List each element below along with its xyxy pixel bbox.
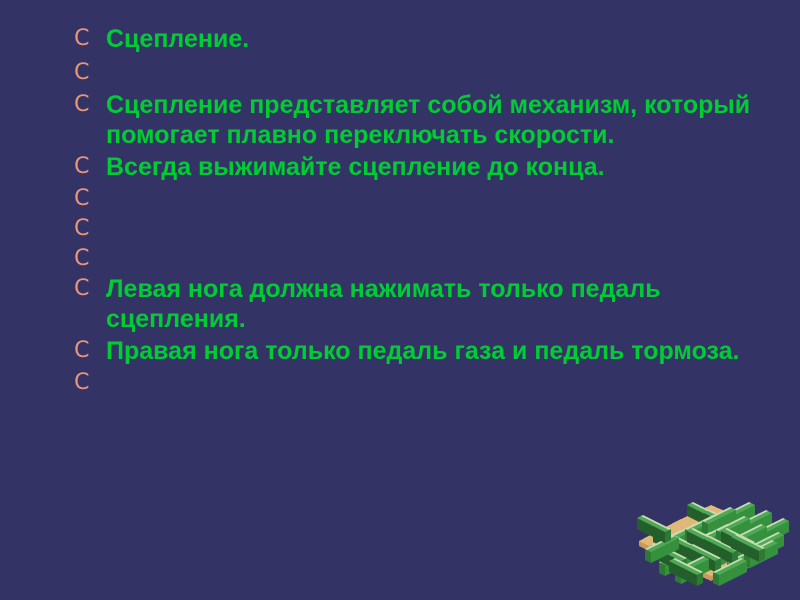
maze-walls xyxy=(637,502,789,586)
list-item[interactable]: Ɔ Левая нога должна нажимать только педа… xyxy=(64,274,764,334)
list-item-text: Всегда выжимайте сцепление до конца. xyxy=(106,152,764,182)
list-item[interactable]: Ɔ xyxy=(64,244,764,274)
list-item-text: Правая нога только педаль газа и педаль … xyxy=(106,336,764,366)
reversed-c-bullet-icon: Ɔ xyxy=(64,58,106,88)
slide-canvas: Ɔ Сцепление. Ɔ Ɔ Сцепление представляет … xyxy=(0,0,800,600)
list-item[interactable]: Ɔ xyxy=(64,58,764,88)
list-item[interactable]: Ɔ Всегда выжимайте сцепление до конца. xyxy=(64,152,764,182)
reversed-c-bullet-icon: Ɔ xyxy=(64,336,106,366)
list-item-text: Сцепление. xyxy=(106,24,764,54)
reversed-c-bullet-icon: Ɔ xyxy=(64,90,106,120)
list-item[interactable]: Ɔ Сцепление представляет собой механизм,… xyxy=(64,90,764,150)
isometric-maze-graphic xyxy=(625,492,797,588)
reversed-c-bullet-icon: Ɔ xyxy=(64,214,106,244)
list-item[interactable]: Ɔ Сцепление. xyxy=(64,24,764,54)
list-item[interactable]: Ɔ Правая нога только педаль газа и педал… xyxy=(64,336,764,366)
reversed-c-bullet-icon: Ɔ xyxy=(64,368,106,398)
list-item[interactable]: Ɔ xyxy=(64,184,764,214)
list-item[interactable]: Ɔ xyxy=(64,214,764,244)
list-item-text: Сцепление представляет собой механизм, к… xyxy=(106,90,764,150)
list-item-text: Левая нога должна нажимать только педаль… xyxy=(106,274,764,334)
reversed-c-bullet-icon: Ɔ xyxy=(64,24,106,54)
reversed-c-bullet-icon: Ɔ xyxy=(64,184,106,214)
reversed-c-bullet-icon: Ɔ xyxy=(64,244,106,274)
bullet-list: Ɔ Сцепление. Ɔ Ɔ Сцепление представляет … xyxy=(64,24,764,398)
list-item[interactable]: Ɔ xyxy=(64,368,764,398)
reversed-c-bullet-icon: Ɔ xyxy=(64,152,106,182)
reversed-c-bullet-icon: Ɔ xyxy=(64,274,106,304)
